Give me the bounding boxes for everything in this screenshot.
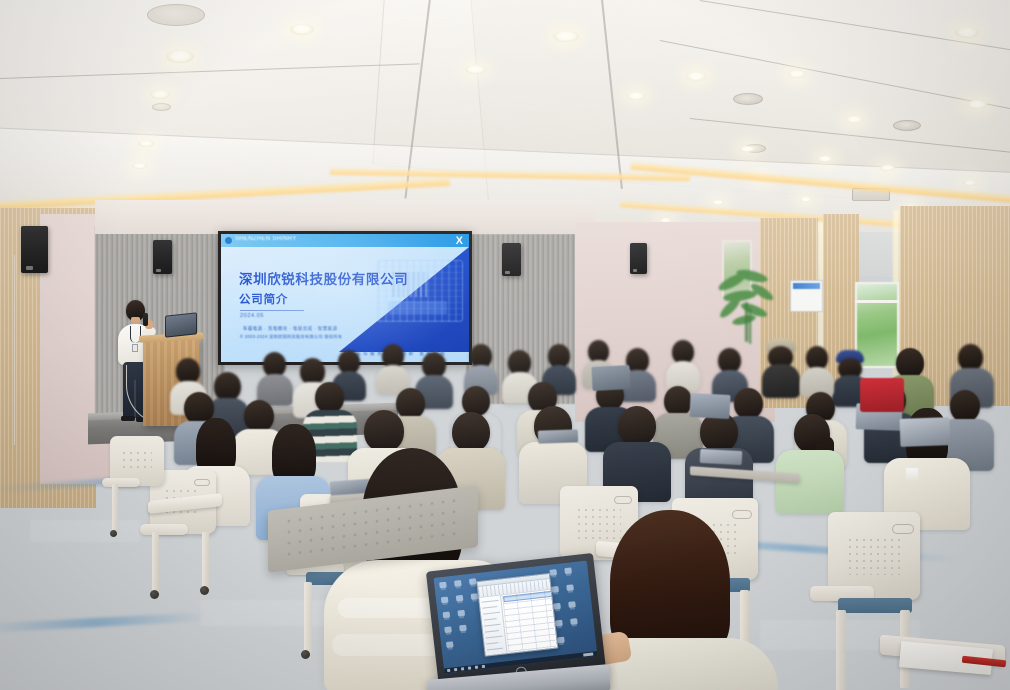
slide-footer-line-1: 车载电源 · 充电模块 · 电驱总成 · 智慧能源 [243,326,337,332]
window-sash [855,300,899,303]
desktop-icon[interactable] [568,601,576,608]
taskbar-icon[interactable] [482,665,485,668]
wall-notice-poster [790,280,823,312]
laptop-screen[interactable] [434,561,598,674]
desktop-icon[interactable] [456,595,464,602]
ceiling-speaker-icon [893,120,921,131]
wall-cable [14,255,24,445]
slide-subhead: 公司简介 [239,291,288,307]
taskbar-icon[interactable] [454,668,457,671]
desktop-icon[interactable] [570,618,578,625]
company-logo-icon [225,237,232,244]
slide-date: 2024.05 [240,313,264,319]
desktop-icon[interactable] [459,625,467,632]
slide-logo-text: SHENZHEN SHINRY [235,236,297,242]
ceiling-speaker-icon [733,93,763,105]
projection-screen[interactable]: SHENZHEN SHINRY X 深圳欣锐科技股份有限公司 公司简介 2024… [221,234,469,362]
carpet-accent-stripe [0,612,210,633]
desktop-icon[interactable] [549,569,557,576]
podium-laptop-screen [166,313,196,336]
wall-speaker [153,240,172,274]
taskbar-icon[interactable] [461,667,464,670]
taskbar-icon[interactable] [475,666,478,669]
smoke-detector-icon [147,4,205,26]
desktop-icon[interactable] [566,584,574,591]
slide-corner-mark: X [456,235,463,247]
slide-footer-line-2: © 2003-2024 深圳欣锐科技股份有限公司 版权所有 [240,334,342,340]
attendee-laptop[interactable] [689,393,730,419]
desktop-icon[interactable] [439,582,447,589]
projection-screen-frame: SHENZHEN SHINRY X 深圳欣锐科技股份有限公司 公司简介 2024… [218,231,472,365]
desktop-icon[interactable] [454,580,462,587]
wall-speaker [630,243,647,274]
poster-header-bar [793,283,820,289]
desktop-icon[interactable] [551,586,559,593]
taskbar-icon[interactable] [447,669,450,672]
paper-cup[interactable] [906,468,918,482]
wall-header-band [95,200,595,234]
desktop-icon[interactable] [457,610,465,617]
desktop-icon[interactable] [553,603,561,610]
taskbar-clock[interactable] [583,652,593,656]
bag [860,378,904,412]
desktop-icon[interactable] [443,611,451,618]
foreground-attendee-laptop-user [588,510,808,690]
potted-plant [718,258,778,353]
ceiling [0,0,1010,232]
conference-room-photo: SHENZHEN SHINRY X 深圳欣锐科技股份有限公司 公司简介 2024… [0,0,1010,690]
wall-speaker [21,226,48,273]
attendee-laptop[interactable] [900,417,951,447]
podium-laptop [165,312,197,337]
microphone-icon [143,313,148,326]
slide-divider [240,310,304,311]
attendee-laptop[interactable] [538,429,578,443]
desktop-icon[interactable] [441,597,449,604]
smoke-detector-icon [152,103,171,111]
taskbar-icon[interactable] [468,666,471,669]
slide-headline: 深圳欣锐科技股份有限公司 [239,268,408,288]
attendee-laptop[interactable] [591,365,630,391]
desktop-icon[interactable] [444,626,452,633]
desktop-icon[interactable] [564,567,572,574]
desktop-icon[interactable] [557,637,565,644]
attendee-laptop[interactable] [700,449,743,465]
desktop-icon[interactable] [446,641,454,648]
desktop-icon[interactable] [555,620,563,627]
wall-speaker [502,243,521,276]
spreadsheet-window[interactable] [476,573,558,657]
